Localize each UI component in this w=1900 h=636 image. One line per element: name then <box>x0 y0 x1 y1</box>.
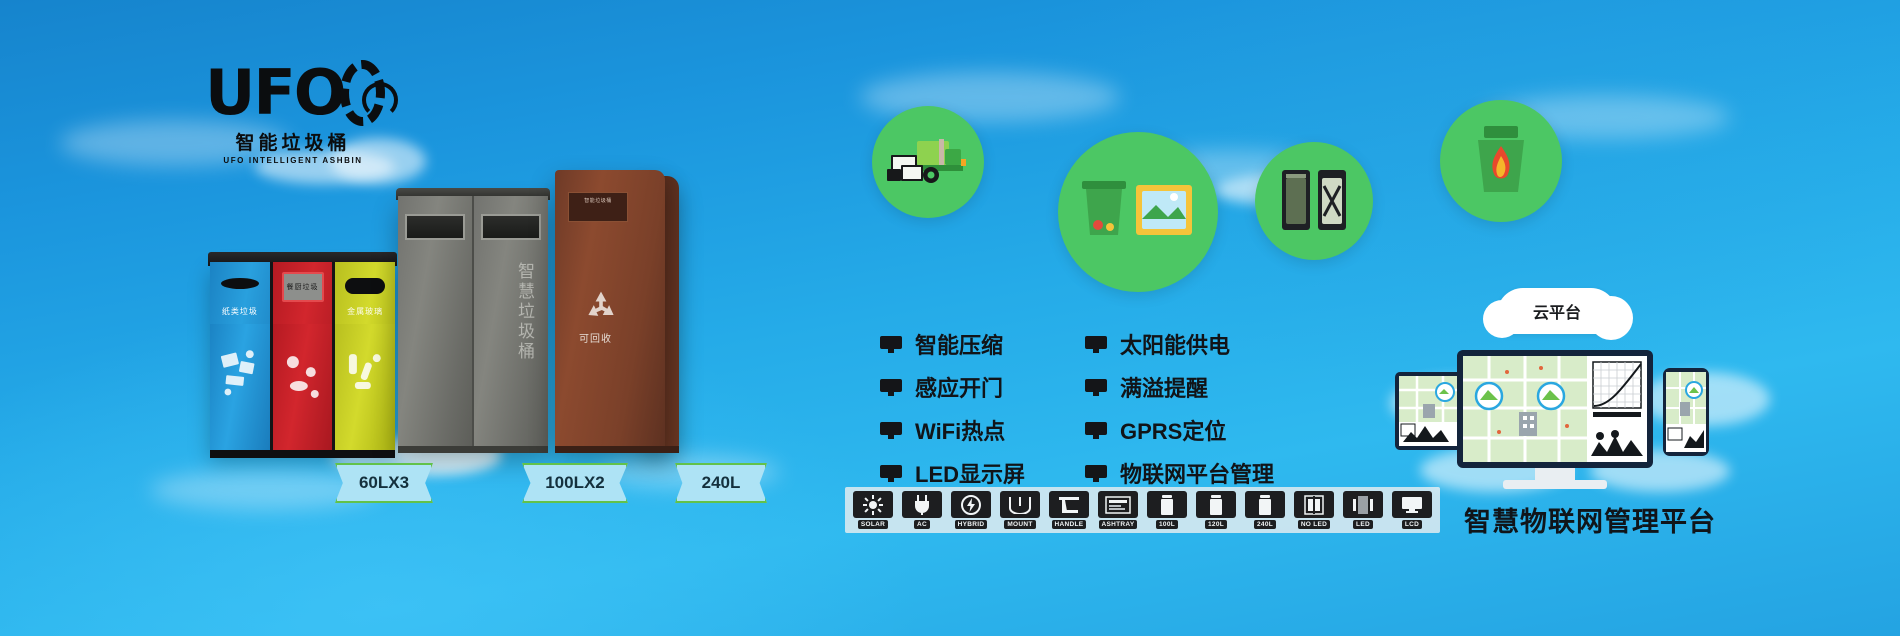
capacity-badge-240l: 240L <box>675 463 767 503</box>
feature-item: WiFi热点 <box>880 414 1025 446</box>
feature-item: LED显示屏 <box>880 457 1025 489</box>
feature-item: 感应开门 <box>880 371 1025 403</box>
waste-slot-icon <box>221 278 259 289</box>
panel-text: 智能垃圾桶 <box>569 193 627 204</box>
spec-item-handle: HANDLE <box>1047 491 1091 529</box>
spec-item-mount: MOUNT <box>998 491 1042 529</box>
monitor-bullet-icon <box>1085 465 1107 482</box>
feature-label: 感应开门 <box>915 371 1003 403</box>
feature-label: 太阳能供电 <box>1120 328 1230 360</box>
double-bin-base <box>398 446 548 453</box>
bin-left-door <box>398 196 474 448</box>
logo-mark: UFO <box>205 60 385 126</box>
led-panel-icon <box>1343 491 1383 518</box>
lcd-screen-icon <box>1392 491 1432 518</box>
brown-bin-display-panel: 智能垃圾桶 <box>568 192 628 222</box>
metal-glass-illustration <box>335 324 395 452</box>
spec-label: HANDLE <box>1052 520 1087 529</box>
feature-circle-bin-status <box>1255 142 1373 260</box>
spec-item-ac: AC <box>900 491 944 529</box>
bin-compartment-kitchen: 餐厨垃圾 <box>273 262 336 452</box>
promo-banner: UFO 智能垃圾桶 UFO INTELLIGENT ASHBIN 纸类垃圾 <box>0 0 1900 636</box>
feature-item: GPRS定位 <box>1085 414 1274 446</box>
compartment-graphic <box>335 324 395 452</box>
spec-label: HYBRID <box>955 520 988 529</box>
bin-100l-icon <box>1147 491 1187 518</box>
ashtray-icon <box>1098 491 1138 518</box>
spec-label: 240L <box>1254 520 1276 529</box>
feature-label: 物联网平台管理 <box>1120 457 1274 489</box>
spec-item-hybrid: HYBRID <box>949 491 993 529</box>
spec-label: MOUNT <box>1004 520 1035 529</box>
iot-platform-illustration: 云平台 <box>1395 288 1725 488</box>
monitor-bullet-icon <box>880 465 902 482</box>
capacity-badge-label: 60LX3 <box>359 473 409 493</box>
compartment-label: 金属玻璃 <box>335 306 395 317</box>
feature-item: 物联网平台管理 <box>1085 457 1274 489</box>
capacity-badge-60lx3: 60LX3 <box>335 463 433 503</box>
recycle-symbol-icon <box>583 288 619 324</box>
feature-item: 智能压缩 <box>880 328 1025 360</box>
brown-bin-side-label: 可回收 <box>579 330 612 345</box>
capacity-badge-label: 100LX2 <box>545 473 605 493</box>
spec-item-led: LED <box>1341 491 1385 529</box>
feature-circle-fire-detection <box>1440 100 1562 222</box>
capacity-badge-label: 240L <box>702 473 741 493</box>
spec-item-240l: 240L <box>1243 491 1287 529</box>
monitor-base <box>1503 480 1607 489</box>
spec-item-solar: SOLAR <box>851 491 895 529</box>
bin-window <box>405 214 464 240</box>
spec-label: AC <box>914 520 930 529</box>
feature-circle-waste-sorting <box>1058 132 1218 292</box>
feature-label: LED显示屏 <box>915 457 1025 489</box>
feature-label: WiFi热点 <box>915 414 1005 446</box>
monitor-bullet-icon <box>880 422 902 439</box>
compartment-label: 纸类垃圾 <box>210 306 270 317</box>
monitor-bullet-icon <box>880 379 902 396</box>
waste-slot-icon <box>345 278 385 294</box>
platform-title: 智慧物联网管理平台 <box>1440 500 1740 539</box>
spec-item-no-led: NO LED <box>1292 491 1336 529</box>
sun-icon <box>853 491 893 518</box>
fire-detection-icon <box>1440 100 1562 222</box>
spec-label: ASHTRAY <box>1099 520 1138 529</box>
handle-icon <box>1049 491 1089 518</box>
feature-label: 智能压缩 <box>915 328 1003 360</box>
product-triple-recycling-bin: 纸类垃圾 餐厨垃圾 <box>210 262 395 452</box>
monitor-bullet-icon <box>1085 336 1107 353</box>
spec-label: LED <box>1353 520 1373 529</box>
bin-240l-icon <box>1245 491 1285 518</box>
fleet-management-icon <box>872 106 984 218</box>
triple-bin-base <box>210 450 395 458</box>
compartment-label: 餐厨垃圾 <box>273 282 333 292</box>
logo-english-name: UFO INTELLIGENT ASHBIN <box>205 156 381 165</box>
brand-logo: UFO 智能垃圾桶 UFO INTELLIGENT ASHBIN <box>205 60 385 165</box>
spec-label: SOLAR <box>858 520 888 529</box>
feature-item: 满溢提醒 <box>1085 371 1274 403</box>
bin-status-icon <box>1255 142 1373 260</box>
monitor-screen <box>1463 356 1647 462</box>
waste-sorting-icon <box>1058 132 1218 292</box>
paper-waste-illustration <box>210 324 270 452</box>
spec-item-lcd: LCD <box>1390 491 1434 529</box>
no-led-icon <box>1294 491 1334 518</box>
spec-label: 100L <box>1156 520 1178 529</box>
phone-screen <box>1666 372 1706 452</box>
desktop-monitor <box>1457 350 1653 468</box>
spec-label: LCD <box>1402 520 1422 529</box>
double-bin-vertical-text: 智慧垃圾桶 <box>512 262 537 362</box>
monitor-bullet-icon <box>1085 379 1107 396</box>
cloud-platform-badge: 云平台 <box>1497 288 1617 334</box>
hybrid-power-icon <box>951 491 991 518</box>
feature-item: 太阳能供电 <box>1085 328 1274 360</box>
spec-item-100l: 100L <box>1145 491 1189 529</box>
capacity-badge-100lx2: 100LX2 <box>522 463 628 503</box>
logo-chinese-name: 智能垃圾桶 <box>205 128 381 155</box>
feature-circle-fleet-management <box>872 106 984 218</box>
cloud-platform-label: 云平台 <box>1533 299 1581 323</box>
spec-item-120l: 120L <box>1194 491 1238 529</box>
power-plug-icon <box>902 491 942 518</box>
feature-label: GPRS定位 <box>1120 414 1226 446</box>
spec-label: NO LED <box>1298 520 1330 529</box>
spec-icon-strip: SOLAR AC HYBRID <box>845 487 1440 533</box>
bin-compartment-paper: 纸类垃圾 <box>210 262 273 452</box>
compartment-graphic <box>210 324 270 452</box>
feature-list-right: 太阳能供电 满溢提醒 GPRS定位 物联网平台管理 <box>1085 328 1274 500</box>
spec-label: 120L <box>1205 520 1227 529</box>
bin-120l-icon <box>1196 491 1236 518</box>
monitor-bullet-icon <box>880 336 902 353</box>
wall-mount-icon <box>1000 491 1040 518</box>
feature-label: 满溢提醒 <box>1120 371 1208 403</box>
bin-window <box>481 214 540 240</box>
kitchen-waste-illustration <box>273 324 333 452</box>
logo-ring-icon <box>340 60 385 126</box>
monitor-bullet-icon <box>1085 422 1107 439</box>
tablet-screen <box>1399 376 1463 446</box>
bin-compartment-metal-glass: 金属玻璃 <box>335 262 395 452</box>
feature-list-left: 智能压缩 感应开门 WiFi热点 LED显示屏 <box>880 328 1025 500</box>
spec-item-ashtray: ASHTRAY <box>1096 491 1140 529</box>
logo-letters: UFO <box>205 68 344 119</box>
product-brown-recycling-bin: 智能垃圾桶 可回收 <box>555 170 665 448</box>
brown-bin-base <box>555 446 679 453</box>
smartphone-device <box>1663 368 1709 456</box>
compartment-graphic <box>273 324 333 452</box>
